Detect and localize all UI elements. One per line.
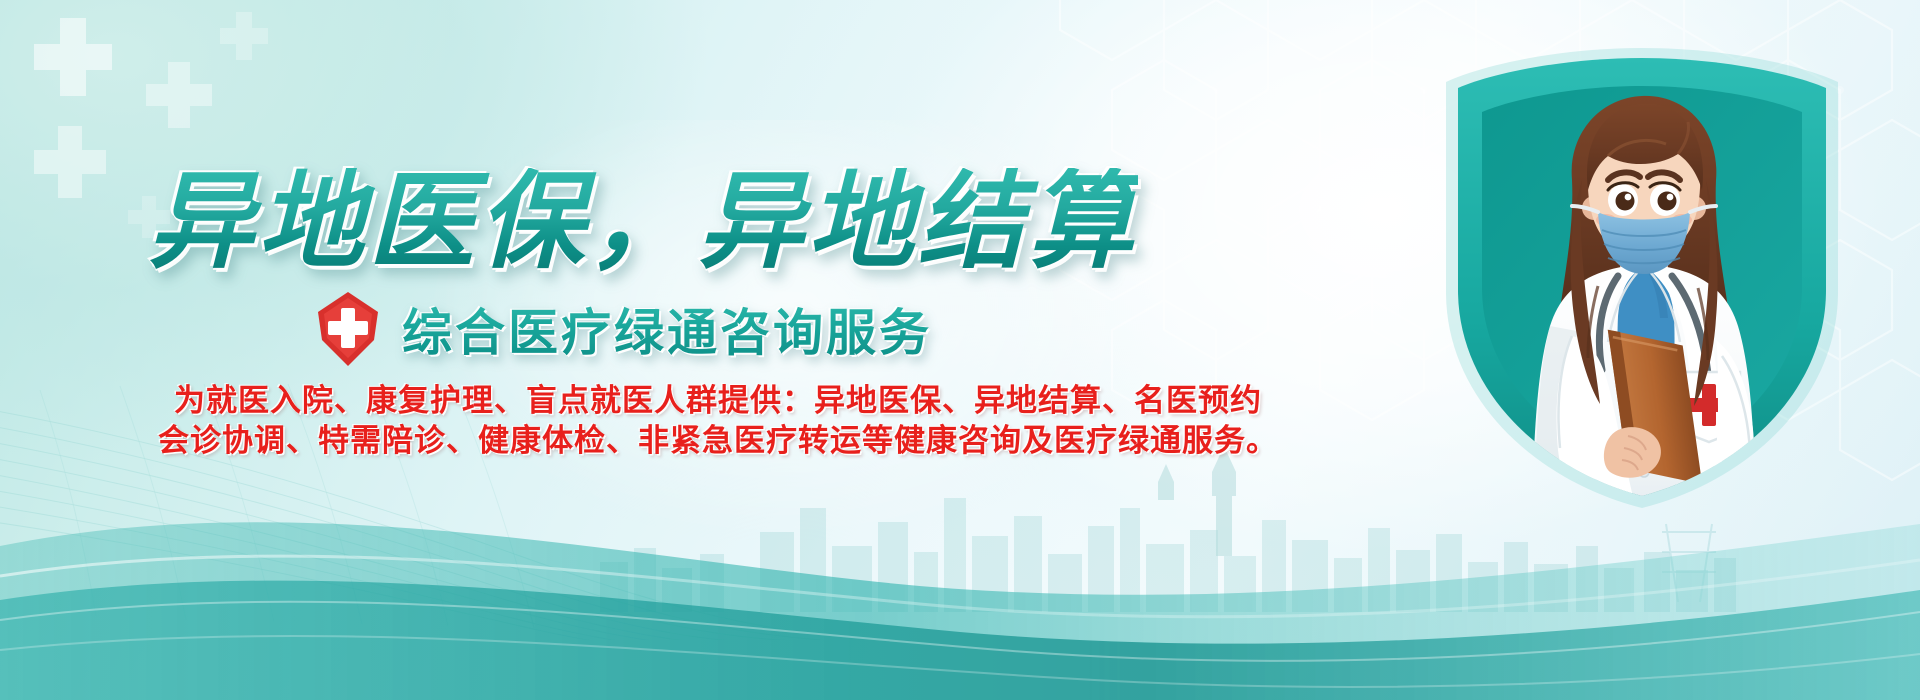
page-title: 异地医保，异地结算	[148, 168, 1138, 276]
service-description-line-1: 为就医入院、康复护理、盲点就医人群提供：异地医保、异地结算、名医预约	[148, 382, 1288, 422]
doctor-shield-illustration	[1422, 40, 1862, 510]
subtitle-row: 综合医疗绿通咨询服务	[312, 290, 932, 368]
service-description-line-2: 会诊协调、特需陪诊、健康体检、非紧急医疗转运等健康咨询及医疗绿通服务。	[148, 422, 1288, 462]
page-subtitle: 综合医疗绿通咨询服务	[402, 293, 932, 365]
medical-service-banner: 异地医保，异地结算 综合医疗绿通咨询服务 为就医入院、康复护理、盲点就医人群提供…	[0, 0, 1920, 700]
medical-cross-shield-icon	[312, 290, 384, 368]
banner-content: 异地医保，异地结算 综合医疗绿通咨询服务 为就医入院、康复护理、盲点就医人群提供…	[0, 0, 1290, 700]
service-description: 为就医入院、康复护理、盲点就医人群提供：异地医保、异地结算、名医预约 会诊协调、…	[148, 382, 1288, 461]
